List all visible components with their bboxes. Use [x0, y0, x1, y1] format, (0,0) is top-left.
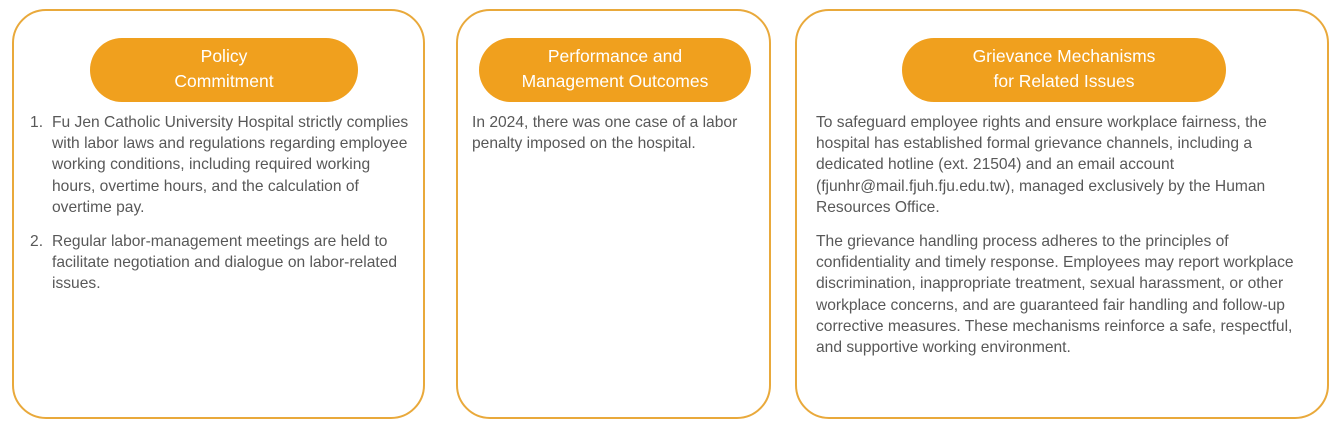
- card-grievance-mechanisms: Grievance Mechanisms for Related Issues …: [795, 9, 1329, 419]
- card-body-grievance-mechanisms: To safeguard employee rights and ensure …: [797, 112, 1327, 358]
- list-item: Fu Jen Catholic University Hospital stri…: [30, 112, 409, 218]
- paragraph: The grievance handling process adheres t…: [816, 231, 1309, 358]
- card-policy-commitment: Policy Commitment Fu Jen Catholic Univer…: [12, 9, 425, 419]
- paragraph: To safeguard employee rights and ensure …: [816, 112, 1309, 218]
- list-item: Regular labor-management meetings are he…: [30, 231, 409, 295]
- paragraph: In 2024, there was one case of a labor p…: [472, 112, 753, 154]
- policy-commitment-list: Fu Jen Catholic University Hospital stri…: [30, 112, 409, 295]
- card-body-performance-management-outcomes: In 2024, there was one case of a labor p…: [458, 112, 769, 154]
- card-body-policy-commitment: Fu Jen Catholic University Hospital stri…: [14, 112, 423, 295]
- card-title-grievance-mechanisms: Grievance Mechanisms for Related Issues: [902, 38, 1226, 102]
- three-column-infographic: Policy Commitment Fu Jen Catholic Univer…: [0, 0, 1340, 434]
- card-title-policy-commitment: Policy Commitment: [90, 38, 358, 102]
- card-title-performance-management-outcomes: Performance and Management Outcomes: [479, 38, 751, 102]
- card-performance-management-outcomes: Performance and Management Outcomes In 2…: [456, 9, 771, 419]
